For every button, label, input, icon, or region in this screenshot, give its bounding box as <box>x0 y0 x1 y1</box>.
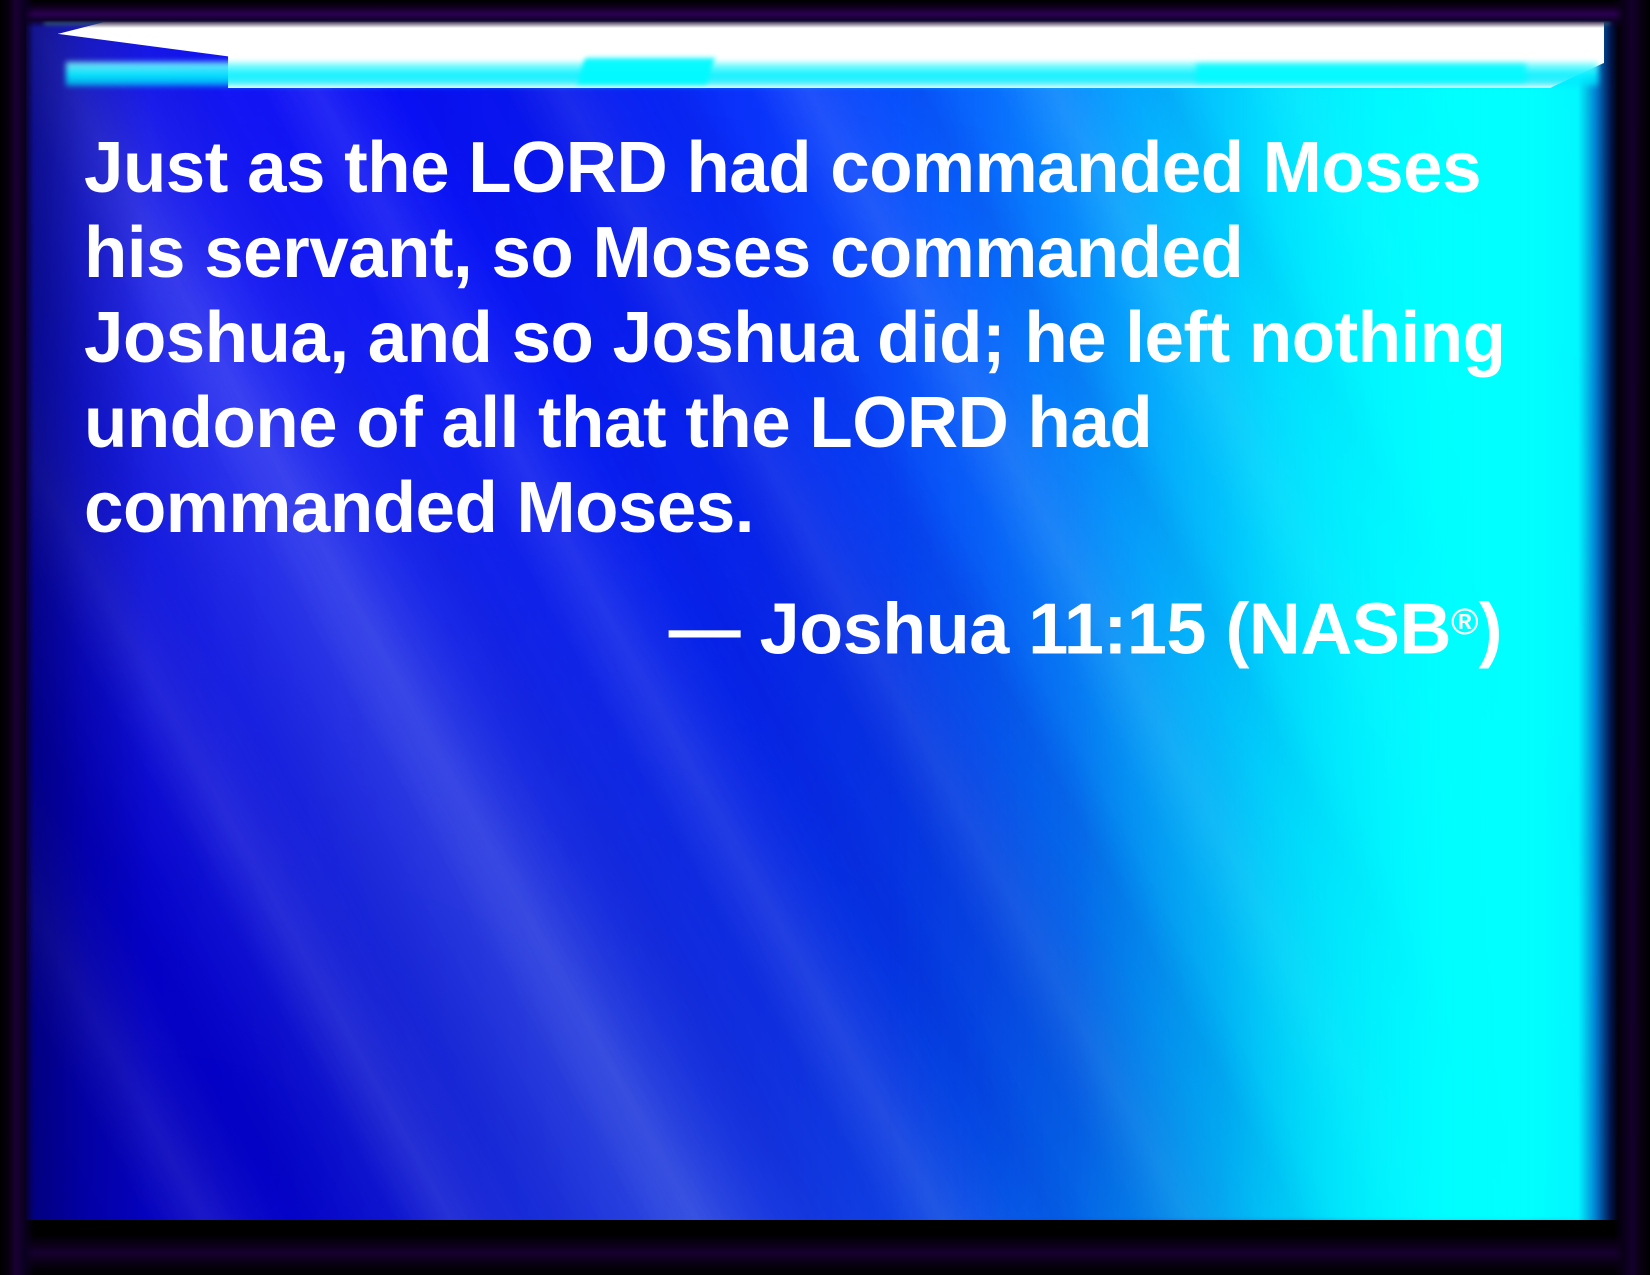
glow-cyan-accent-left <box>577 58 714 84</box>
attribution-translation: NASB <box>1249 589 1451 669</box>
attribution-spacer-2 <box>1206 589 1226 669</box>
verse-line-1: Just as the LORD had commanded Moses <box>84 126 1483 211</box>
background-right-edge-shadow <box>1578 18 1618 1220</box>
attribution-reference: Joshua 11:15 <box>760 589 1206 669</box>
verse-text-block: Just as the LORD had commanded Moses his… <box>84 126 1504 672</box>
slide-canvas: Just as the LORD had commanded Moses his… <box>26 18 1618 1220</box>
scripture-slide: Just as the LORD had commanded Moses his… <box>0 0 1650 1275</box>
verse-line-4: undone of all that the LORD had <box>84 381 1483 466</box>
verse-line-5: commanded Moses. <box>84 466 1483 551</box>
attribution-close-paren: ) <box>1479 589 1502 669</box>
attribution-em-dash: — <box>669 589 741 669</box>
attribution-open-paren: ( <box>1225 589 1248 669</box>
verse-line-3: Joshua, and so Joshua did; he left nothi… <box>84 296 1483 381</box>
attribution-spacer <box>740 589 760 669</box>
verse-line-2: his servant, so Moses commanded <box>84 211 1483 296</box>
glow-cyan-accent-right <box>1196 64 1526 82</box>
top-glow-band <box>26 18 1618 102</box>
registered-trademark-icon: ® <box>1451 600 1479 642</box>
verse-attribution: — Joshua 11:15 (NASB®) <box>84 551 1504 672</box>
